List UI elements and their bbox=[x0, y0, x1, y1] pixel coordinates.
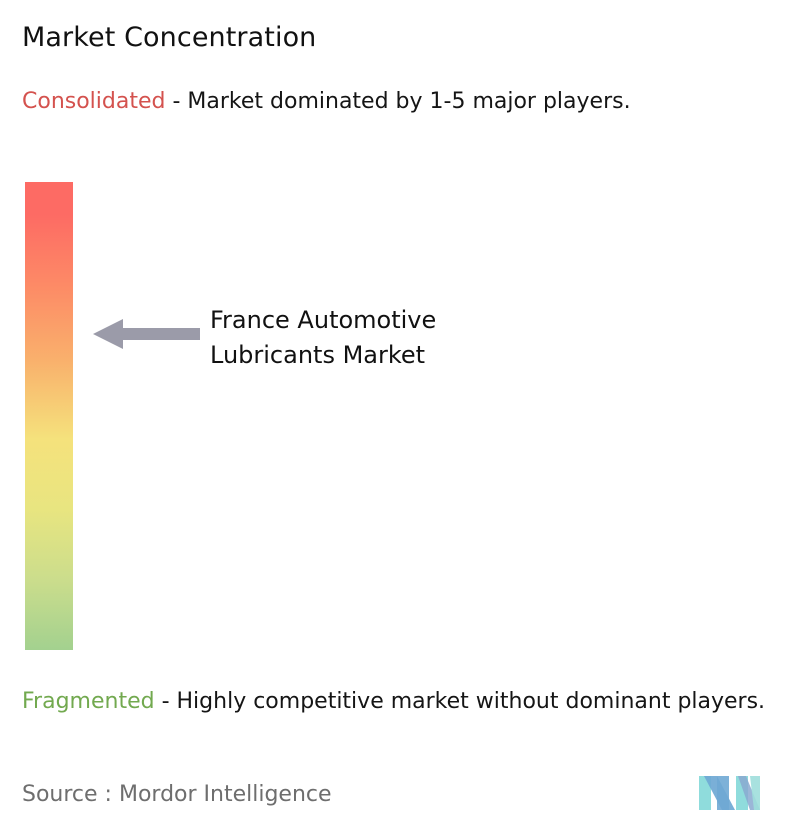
consolidated-description: Consolidated - Market dominated by 1-5 m… bbox=[22, 86, 774, 117]
fragmented-description-text: - Highly competitive market without domi… bbox=[155, 689, 765, 714]
mordor-intelligence-logo bbox=[698, 766, 762, 818]
consolidated-keyword: Consolidated bbox=[22, 89, 165, 114]
left-arrow-icon bbox=[93, 318, 200, 350]
callout-label-line2: Lubricants Market bbox=[210, 338, 540, 373]
mordor-logo-icon bbox=[698, 766, 762, 818]
callout-label: France Automotive Lubricants Market bbox=[210, 303, 540, 373]
page-title: Market Concentration bbox=[22, 21, 316, 55]
consolidated-description-text: - Market dominated by 1-5 major players. bbox=[165, 89, 630, 114]
callout-label-line1: France Automotive bbox=[210, 303, 540, 338]
callout-arrow bbox=[93, 318, 200, 350]
fragmented-keyword: Fragmented bbox=[22, 689, 155, 714]
source-value: Mordor Intelligence bbox=[119, 782, 332, 807]
source-label: Source : bbox=[22, 782, 112, 807]
source-note: Source : Mordor Intelligence bbox=[22, 780, 332, 810]
fragmented-description: Fragmented - Highly competitive market w… bbox=[22, 686, 784, 717]
concentration-spectrum-bar bbox=[25, 182, 73, 650]
market-concentration-infographic: Market Concentration Consolidated - Mark… bbox=[0, 0, 796, 834]
